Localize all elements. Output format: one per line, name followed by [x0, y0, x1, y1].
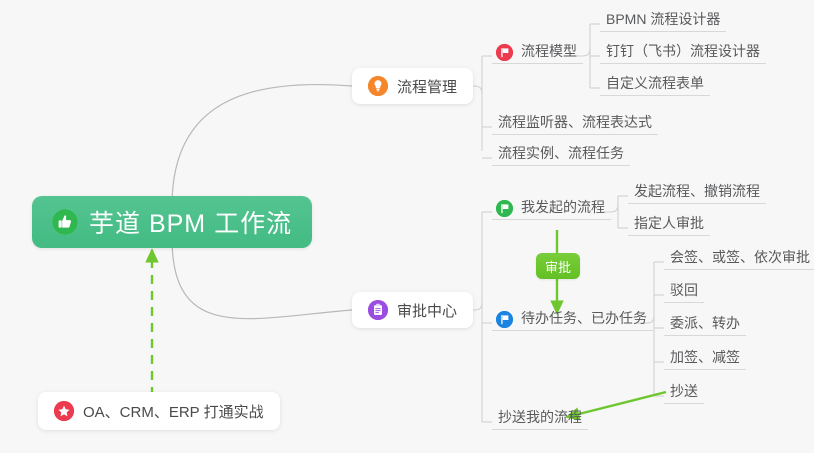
node-cc-label: 抄送 [670, 381, 698, 401]
link-root-to-approval-center [172, 238, 352, 319]
node-dingtalk-feishu-designer[interactable]: 钉钉（飞书）流程设计器 [600, 36, 766, 64]
approval-badge: 审批 [536, 253, 580, 279]
node-cc[interactable]: 抄送 [664, 376, 704, 404]
node-custom-process-form[interactable]: 自定义流程表单 [600, 68, 710, 96]
node-custom-process-form-label: 自定义流程表单 [606, 73, 704, 93]
node-process-model[interactable]: 流程模型 [492, 36, 583, 64]
node-delegate-transfer-label: 委派、转办 [670, 313, 740, 333]
node-todo-done-tasks[interactable]: 待办任务、已办任务 [492, 303, 653, 331]
branch-approval-center-label: 审批中心 [397, 300, 457, 321]
node-my-initiated-process-label: 我发起的流程 [521, 197, 605, 217]
node-bpmn-designer[interactable]: BPMN 流程设计器 [600, 4, 726, 32]
node-reject-label: 驳回 [670, 280, 698, 300]
root-node[interactable]: 芋道 BPM 工作流 [32, 196, 312, 248]
node-cc-my-process-label: 抄送我的流程 [498, 407, 582, 427]
lightbulb-icon [368, 76, 388, 96]
flag-icon [496, 44, 513, 61]
node-todo-done-tasks-label: 待办任务、已办任务 [521, 308, 647, 328]
root-label: 芋道 BPM 工作流 [89, 204, 292, 240]
node-process-model-label: 流程模型 [521, 41, 577, 61]
node-cc-my-process[interactable]: 抄送我的流程 [492, 402, 588, 430]
star-icon [54, 401, 74, 421]
node-countersign-orsign-sequential-label: 会签、或签、依次审批 [670, 247, 810, 267]
node-oa-crm-erp[interactable]: OA、CRM、ERP 打通实战 [38, 392, 280, 430]
branch-approval-center[interactable]: 审批中心 [352, 292, 473, 328]
node-countersign-orsign-sequential[interactable]: 会签、或签、依次审批 [664, 242, 814, 270]
node-designated-approver-label: 指定人审批 [634, 213, 704, 233]
node-start-cancel-process-label: 发起流程、撤销流程 [634, 181, 760, 201]
node-process-instance-task[interactable]: 流程实例、流程任务 [492, 138, 630, 166]
node-my-initiated-process[interactable]: 我发起的流程 [492, 192, 611, 220]
node-bpmn-designer-label: BPMN 流程设计器 [606, 9, 720, 29]
node-process-instance-task-label: 流程实例、流程任务 [498, 143, 624, 163]
thumbs-up-icon [52, 209, 78, 235]
node-reject[interactable]: 驳回 [664, 275, 704, 303]
node-designated-approver[interactable]: 指定人审批 [628, 208, 710, 236]
node-oa-crm-erp-label: OA、CRM、ERP 打通实战 [83, 401, 264, 422]
node-delegate-transfer[interactable]: 委派、转办 [664, 308, 746, 336]
node-add-remove-sign-label: 加签、减签 [670, 347, 740, 367]
mindmap-canvas: 芋道 BPM 工作流 流程管理 流程模型 BPMN 流程设计器 钉钉（飞书）流程 [0, 0, 814, 453]
node-dingtalk-feishu-designer-label: 钉钉（飞书）流程设计器 [606, 41, 760, 61]
flag-icon [496, 200, 513, 217]
node-start-cancel-process[interactable]: 发起流程、撤销流程 [628, 176, 766, 204]
branch-process-management[interactable]: 流程管理 [352, 68, 473, 104]
node-add-remove-sign[interactable]: 加签、减签 [664, 342, 746, 370]
flag-icon [496, 311, 513, 328]
node-process-listener-expression-label: 流程监听器、流程表达式 [498, 112, 652, 132]
approval-badge-label: 审批 [545, 257, 571, 276]
node-process-listener-expression[interactable]: 流程监听器、流程表达式 [492, 107, 658, 135]
link-root-to-process-management [172, 85, 352, 206]
branch-process-management-label: 流程管理 [397, 76, 457, 97]
clipboard-icon [368, 300, 388, 320]
